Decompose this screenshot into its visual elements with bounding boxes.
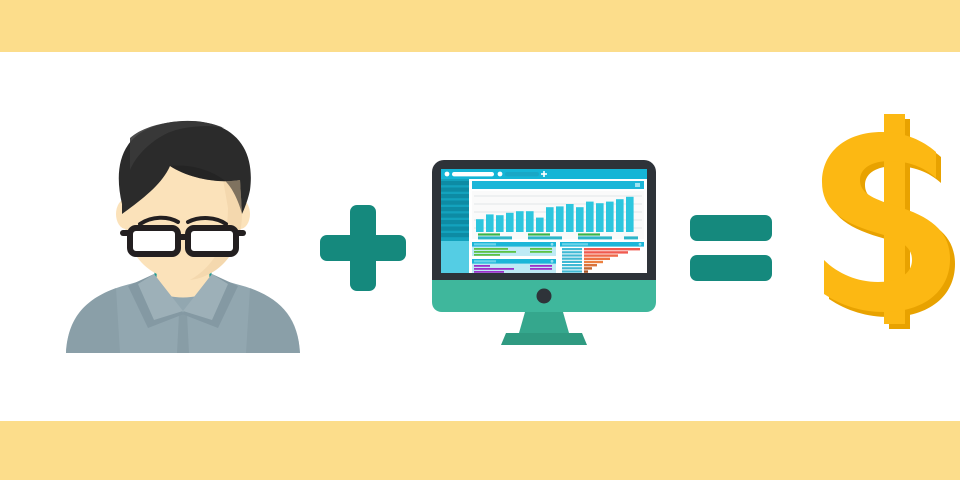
dollar-sign-icon: $	[812, 104, 958, 334]
top-yellow-band	[0, 0, 960, 52]
person-illustration: man-with-glasses-illustration	[58, 118, 308, 353]
equals-top-bar	[690, 215, 772, 241]
equals-label: =	[690, 215, 691, 216]
dashboard-sidebar	[441, 179, 469, 273]
bottom-yellow-band	[0, 421, 960, 480]
person-alt-text: man-with-glasses-illustration	[58, 353, 59, 354]
monitor-base	[501, 333, 587, 345]
equals-bottom-bar	[690, 255, 772, 281]
dollar-glyph	[822, 114, 950, 324]
illustration-canvas: man-with-glasses-illustration +	[0, 0, 960, 480]
monitor-illustration: desktop-monitor-with-dashboard	[430, 160, 658, 348]
monitor-stand	[519, 312, 569, 333]
equals-operator-icon: =	[690, 215, 772, 281]
monitor-alt-text: desktop-monitor-with-dashboard	[430, 348, 431, 349]
sidebar-lower-panel	[441, 241, 469, 273]
plus-vertical-bar	[350, 205, 376, 291]
dollar-label: $	[812, 334, 813, 335]
green-list-card	[472, 242, 556, 256]
plus-operator-icon: +	[320, 205, 406, 291]
red-funnel-card	[560, 242, 644, 273]
power-button	[537, 289, 552, 304]
purple-list-card	[472, 259, 556, 273]
browser-bar	[441, 169, 647, 179]
plus-label: +	[320, 205, 321, 206]
